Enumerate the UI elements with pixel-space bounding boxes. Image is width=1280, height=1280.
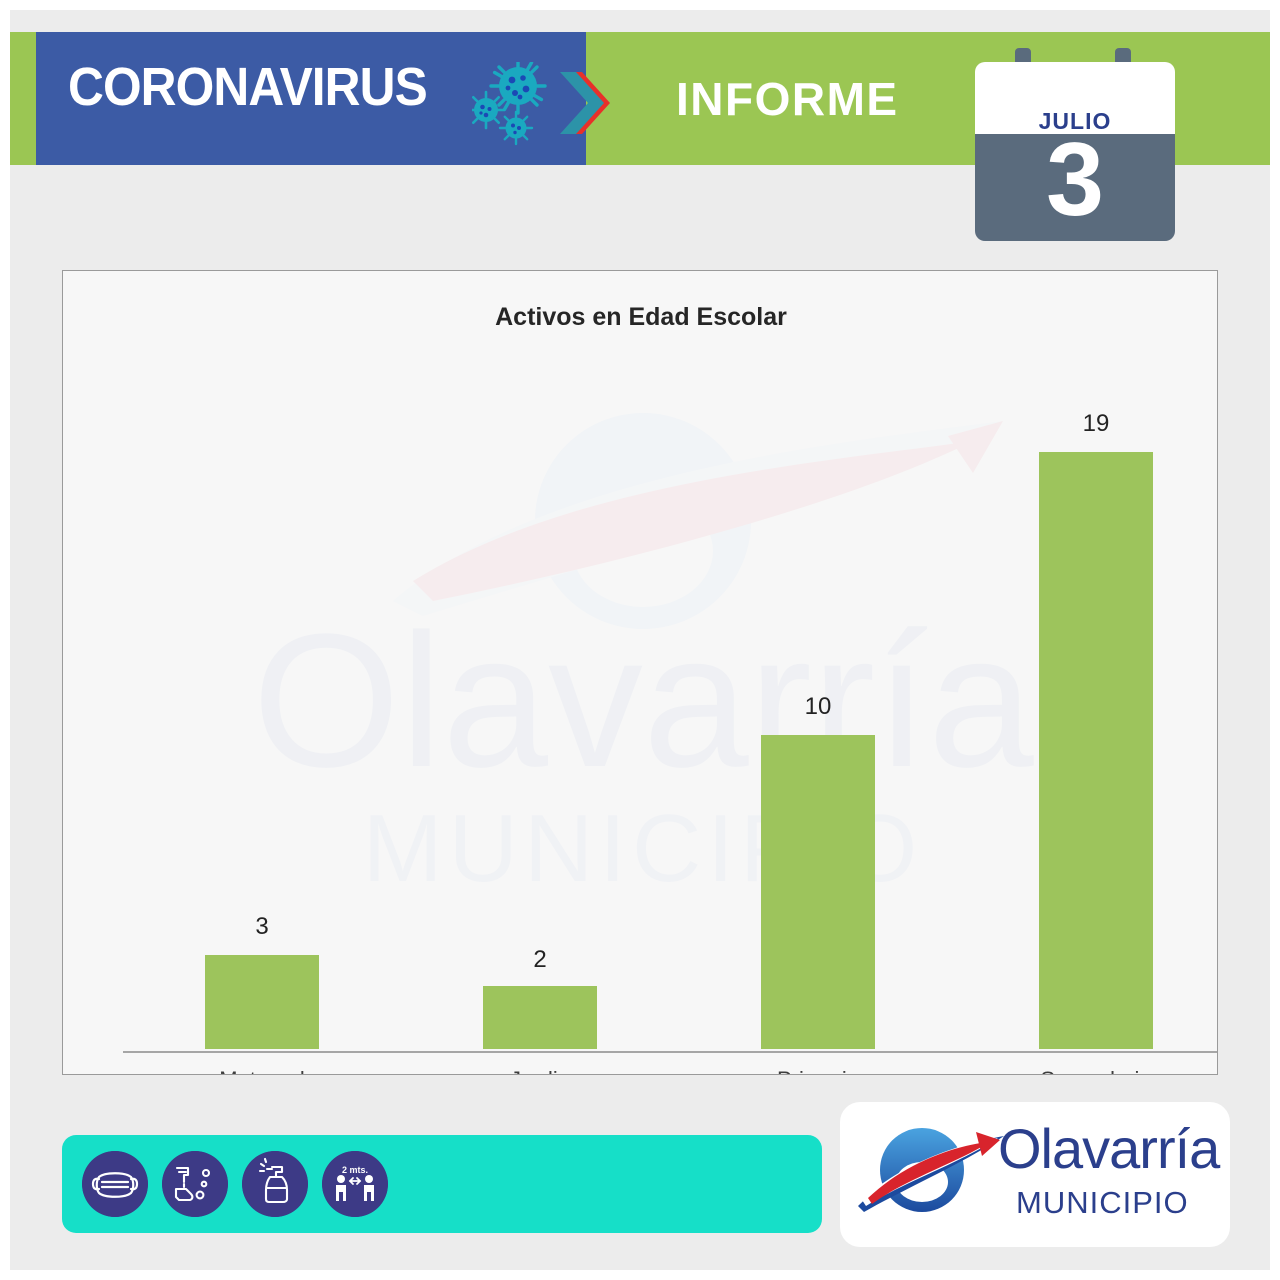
bar-maternal [205,955,319,1049]
xtick-maternal: Maternal 0 a 3 años [175,1063,349,1075]
bar-primaria [761,735,875,1049]
prevention-bar: 2 mts. [62,1135,822,1233]
report-label: INFORME [676,72,899,126]
xtick-label: Maternal [175,1063,349,1075]
bar-jardin [483,986,597,1049]
bar-value-jardin: 2 [483,946,597,974]
xtick-secundaria: Secundaria 13 a 18 años [1009,1063,1183,1075]
xtick-label: Jardin [453,1063,627,1075]
olavarria-swoosh-icon [858,1120,1006,1220]
date-calendar: JULIO 3 [975,48,1175,241]
social-distancing-icon: 2 mts. [322,1151,388,1217]
poster-canvas: CORONAVIRUS [10,10,1270,1270]
distance-label: 2 mts. [342,1165,368,1175]
calendar-day: 3 [975,120,1175,240]
bar-value-secundaria: 19 [1039,410,1153,438]
xtick-label: Primaria [731,1063,905,1075]
page-title: CORONAVIRUS [68,58,427,116]
bar-value-primaria: 10 [761,693,875,721]
plot-area: 3 2 10 19 Maternal 0 a 3 años Jardin 3 a… [93,341,1189,981]
bar-value-maternal: 3 [205,913,319,941]
virus-icon [472,62,572,148]
sanitizer-spray-icon [242,1151,308,1217]
chevron-right-icon [558,68,630,138]
logo-panel: Olavarría MUNICIPIO [840,1102,1230,1247]
xtick-primaria: Primaria 5 a 13 años [731,1063,905,1075]
logo-subtitle: MUNICIPIO [1016,1186,1189,1220]
calendar-body: 3 [975,134,1175,241]
handwashing-icon [162,1151,228,1217]
x-axis-line [123,1051,1218,1053]
xtick-label: Secundaria [1009,1063,1183,1075]
face-mask-icon [82,1151,148,1217]
header-banner: CORONAVIRUS [10,10,1270,165]
bar-secundaria [1039,452,1153,1049]
logo-wordmark: Olavarría [998,1118,1219,1180]
chart-panel: Olavarría MUNICIPIO Activos en Edad Esco… [62,270,1218,1075]
chart-title: Activos en Edad Escolar [63,303,1218,332]
xtick-jardin: Jardin 3 a 5 años [453,1063,627,1075]
